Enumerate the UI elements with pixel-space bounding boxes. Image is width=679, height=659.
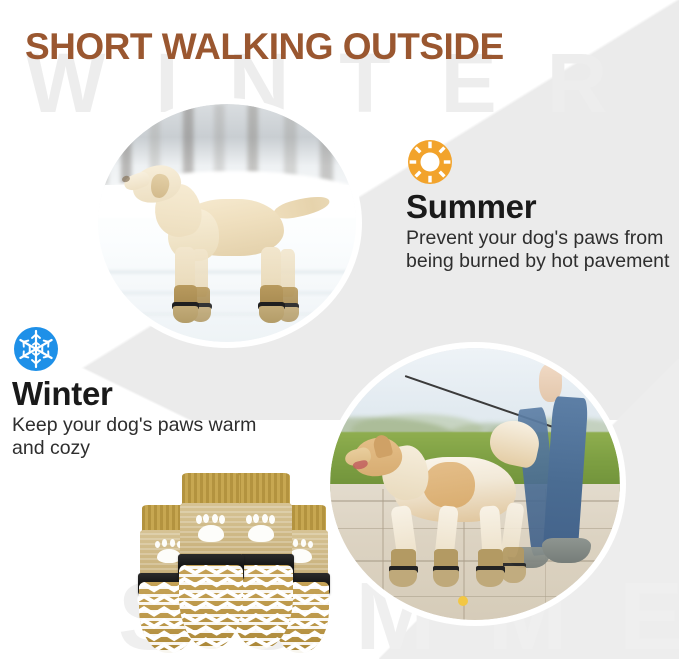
snowflake-icon (12, 325, 60, 373)
dog-sock (180, 473, 242, 649)
photo-winter-dog (98, 104, 356, 342)
product-photo-dog-socks (136, 452, 328, 659)
anti-slip-zigzag (179, 565, 243, 649)
feature-summer: Summer Prevent your dog's paws from bein… (406, 138, 674, 274)
photo-summer-dog (330, 348, 620, 620)
sun-icon (406, 138, 454, 186)
feature-heading-winter: Winter (12, 377, 280, 412)
infographic-canvas: WINTER SUMMER SHORT WALKING OUTSIDE (0, 0, 679, 659)
feature-heading-summer: Summer (406, 190, 674, 225)
feature-description-summer: Prevent your dog's paws from being burne… (406, 227, 674, 275)
page-title: SHORT WALKING OUTSIDE (25, 26, 504, 69)
feature-winter: Winter Keep your dog's paws warm and coz… (12, 325, 280, 461)
feature-description-winter: Keep your dog's paws warm and cozy (12, 414, 280, 462)
